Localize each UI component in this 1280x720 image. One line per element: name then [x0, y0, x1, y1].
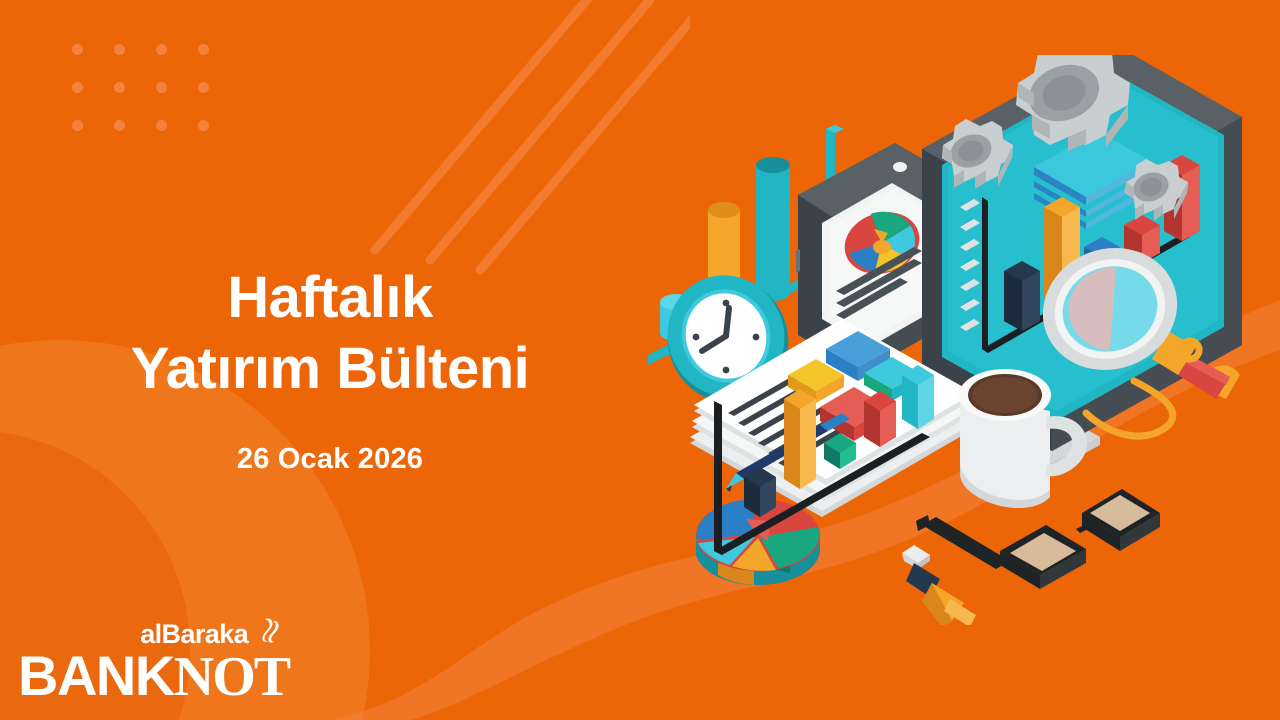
brand-logo: alBaraka BANKNOT — [18, 615, 288, 704]
banknot-wordmark: BANKNOT — [18, 650, 288, 704]
newsletter-cover-slide: Haftalık Yatırım Bülteni 26 Ocak 2026 al… — [0, 0, 1280, 720]
page-title: Haftalık Yatırım Bülteni — [0, 262, 660, 405]
headline-block: Haftalık Yatırım Bülteni 26 Ocak 2026 — [0, 262, 660, 476]
headline-line-2: Yatırım Bülteni — [0, 333, 660, 404]
headline-line-1: Haftalık — [0, 262, 660, 333]
banknot-not-part: NOT — [174, 646, 289, 708]
banknot-bank-part: BANK — [18, 644, 174, 707]
albaraka-double-drop-mark — [252, 615, 282, 645]
decorative-dot-grid — [72, 44, 240, 158]
issue-date: 26 Ocak 2026 — [0, 443, 660, 476]
fountain-pen-icon — [902, 545, 976, 625]
isometric-analytics-illustration — [630, 55, 1250, 625]
